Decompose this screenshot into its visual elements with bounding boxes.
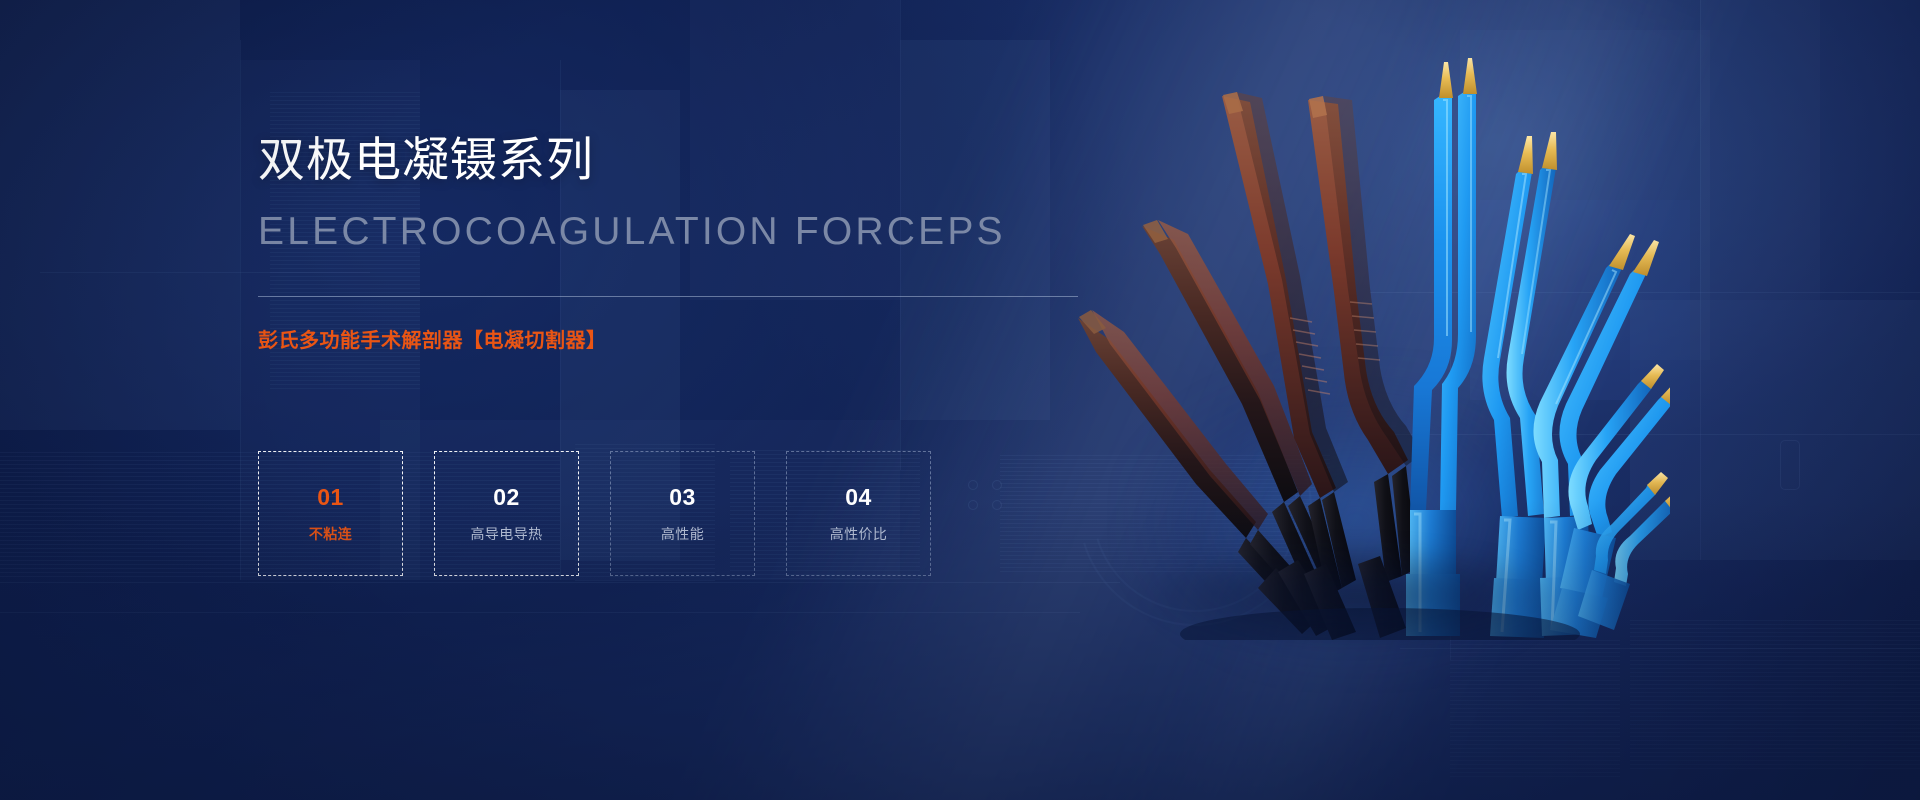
feature-number: 04 <box>845 486 872 509</box>
feature-item-04[interactable]: 04 高性价比 <box>786 451 931 576</box>
feature-label: 高性能 <box>661 527 704 541</box>
feature-item-01[interactable]: 01 不粘连 <box>258 451 403 576</box>
feature-list: 01 不粘连 02 高导电导热 03 高性能 04 高性价比 <box>258 451 931 576</box>
product-banner: 双极电凝镊系列 ELECTROCOAGULATION FORCEPS 彭氏多功能… <box>0 0 1920 800</box>
feature-item-02[interactable]: 02 高导电导热 <box>434 451 579 576</box>
product-tagline: 彭氏多功能手术解剖器【电凝切割器】 <box>258 331 607 351</box>
feature-item-03[interactable]: 03 高性能 <box>610 451 755 576</box>
feature-number: 02 <box>493 486 520 509</box>
page-title: 双极电凝镊系列 <box>258 136 594 183</box>
feature-label: 高导电导热 <box>471 527 543 541</box>
feature-number: 03 <box>669 486 696 509</box>
feature-number: 01 <box>317 486 344 509</box>
divider <box>258 296 1078 297</box>
feature-label: 不粘连 <box>309 527 352 541</box>
page-subtitle-english: ELECTROCOAGULATION FORCEPS <box>258 212 1006 251</box>
feature-label: 高性价比 <box>830 527 888 541</box>
banner-content: 双极电凝镊系列 ELECTROCOAGULATION FORCEPS 彭氏多功能… <box>258 0 1158 800</box>
